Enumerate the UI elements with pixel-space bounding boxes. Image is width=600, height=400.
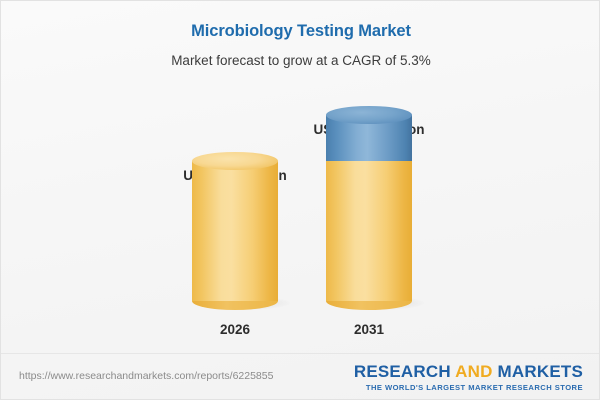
logo-wordmark: RESEARCH AND MARKETS — [354, 363, 583, 381]
bar-segment-base-2026 — [192, 161, 278, 301]
cylinder-body — [326, 161, 412, 301]
bar-category-label-2031: 2031 — [266, 322, 472, 337]
source-url[interactable]: https://www.researchandmarkets.com/repor… — [19, 370, 273, 382]
bar-segment-base-2031 — [326, 161, 412, 301]
chart-subtitle: Market forecast to grow at a CAGR of 5.3… — [1, 53, 600, 68]
logo-word-research: RESEARCH — [354, 362, 451, 381]
cylinder-top-ellipse — [326, 106, 412, 124]
logo-tagline: THE WORLD'S LARGEST MARKET RESEARCH STOR… — [354, 383, 583, 392]
bar-segment-growth-2031 — [326, 115, 412, 161]
cylinder-body — [192, 161, 278, 301]
logo-word-and: AND — [455, 362, 492, 381]
cylinder-top-ellipse — [192, 152, 278, 170]
logo-word-markets: MARKETS — [498, 362, 583, 381]
cylinder-2026 — [192, 161, 278, 301]
chart-title: Microbiology Testing Market — [1, 22, 600, 41]
market-forecast-infographic: Microbiology Testing Market Market forec… — [0, 0, 600, 400]
research-and-markets-logo[interactable]: RESEARCH AND MARKETS THE WORLD'S LARGEST… — [354, 363, 583, 392]
cylinder-2031 — [326, 115, 412, 301]
footer-divider — [1, 353, 600, 354]
chart-plot-area: USD 7.79 Billion 2026 USD 10.09 Billion — [1, 91, 600, 341]
